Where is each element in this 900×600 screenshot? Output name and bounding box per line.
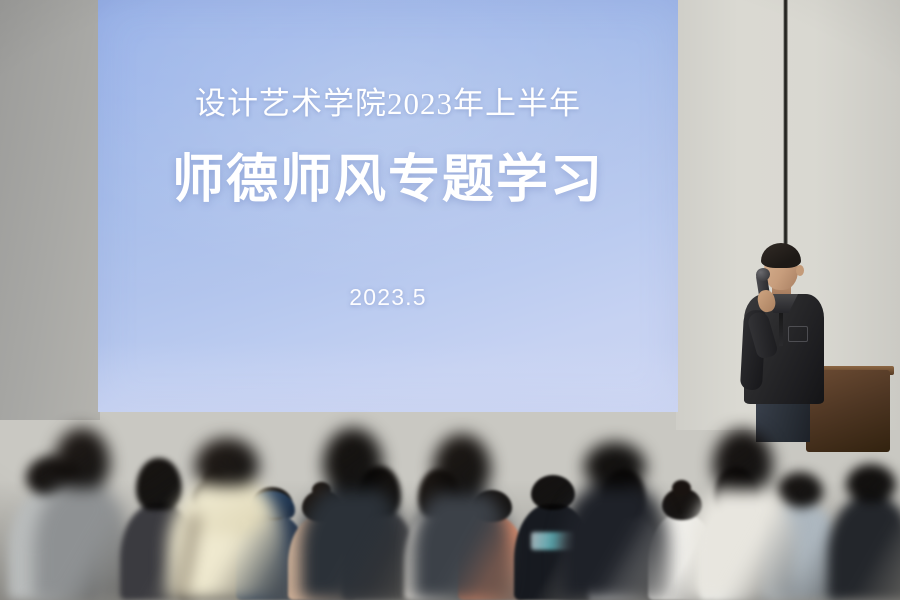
presenter-hair [761,243,801,268]
audience-member-head [846,464,896,502]
slide-date: 2023.5 [98,284,678,311]
audience-member [828,444,900,600]
audience-member [34,424,130,600]
audience-member-head [713,429,773,490]
audience-member-torso [828,496,900,600]
audience-member [412,430,512,600]
audience-member [560,422,670,600]
audience-member-head [433,434,491,494]
lecture-hall-photo: 设计艺术学院2023年上半年 师德师风专题学习 2023.5 [0,0,900,600]
audience-member-head [195,438,259,486]
audience-member [168,418,286,600]
presenter-ear [796,265,804,276]
seated-audience [0,330,900,600]
audience-member-torso [34,482,130,600]
audience-member [300,424,406,600]
audience-member [690,425,796,600]
audience-member-head [54,428,110,488]
audience-member-head [323,428,383,490]
audience-member-torso [690,484,796,600]
audience-member-torso [300,484,406,600]
slide-title: 师德师风专题学习 [98,137,678,212]
audience-member-head [584,442,646,488]
hair-bun [672,480,691,496]
slide-content: 设计艺术学院2023年上半年 师德师风专题学习 2023.5 [98,0,678,311]
audience-member-torso [412,488,512,600]
audience-member-torso [560,482,670,600]
slide-subtitle: 设计艺术学院2023年上半年 [98,78,678,123]
